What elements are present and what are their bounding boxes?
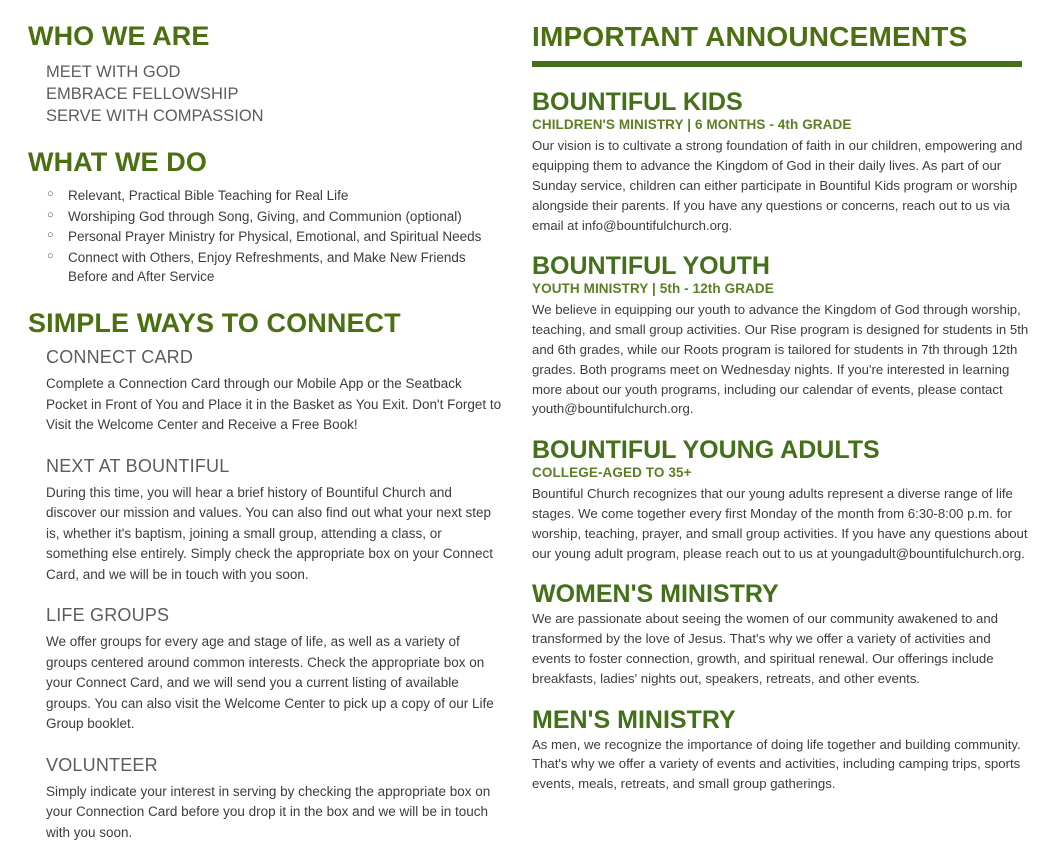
circle-bullet-icon: ○ <box>47 227 54 245</box>
connect-entry: LIFE GROUPS We offer groups for every ag… <box>46 605 502 735</box>
simple-ways-heading: SIMPLE WAYS TO CONNECT <box>28 309 502 337</box>
connect-entry-title: CONNECT CARD <box>46 347 502 368</box>
who-we-are-list: MEET WITH GOD EMBRACE FELLOWSHIP SERVE W… <box>28 62 502 127</box>
connect-entry: VOLUNTEER Simply indicate your interest … <box>46 755 502 843</box>
who-we-are-heading: WHO WE ARE <box>28 22 502 50</box>
announcement-heading: BOUNTIFUL YOUTH <box>532 253 1030 280</box>
simple-ways-entries: CONNECT CARD Complete a Connection Card … <box>28 347 502 843</box>
who-we-are-item: MEET WITH GOD <box>46 62 502 84</box>
left-column: WHO WE ARE MEET WITH GOD EMBRACE FELLOWS… <box>0 0 520 843</box>
title-divider <box>532 61 1022 67</box>
what-we-do-item-label: Worshiping God through Song, Giving, and… <box>68 209 462 224</box>
what-we-do-item-label: Personal Prayer Ministry for Physical, E… <box>68 229 481 244</box>
announcement-subheading: YOUTH MINISTRY | 5th - 12th GRADE <box>532 281 1030 296</box>
connect-entry-body: We offer groups for every age and stage … <box>46 632 502 735</box>
announcement-block: MEN'S MINISTRY As men, we recognize the … <box>532 707 1030 794</box>
announcement-heading: BOUNTIFUL YOUNG ADULTS <box>532 437 1030 464</box>
announcement-heading: WOMEN'S MINISTRY <box>532 581 1030 608</box>
announcement-subheading: CHILDREN'S MINISTRY | 6 MONTHS - 4th GRA… <box>532 117 1030 132</box>
who-we-are-item: SERVE WITH COMPASSION <box>46 106 502 128</box>
what-we-do-item-label: Connect with Others, Enjoy Refreshments,… <box>68 250 466 285</box>
circle-bullet-icon: ○ <box>47 186 54 204</box>
what-we-do-item: ○ Personal Prayer Ministry for Physical,… <box>46 227 502 247</box>
connect-entry-body: During this time, you will hear a brief … <box>46 483 502 586</box>
announcement-block: WOMEN'S MINISTRY We are passionate about… <box>532 581 1030 688</box>
announcement-body: We believe in equipping our youth to adv… <box>532 300 1030 419</box>
announcement-body: As men, we recognize the importance of d… <box>532 735 1030 794</box>
connect-entry-body: Complete a Connection Card through our M… <box>46 374 502 436</box>
connect-entry-title: VOLUNTEER <box>46 755 502 776</box>
announcement-body: We are passionate about seeing the women… <box>532 609 1030 688</box>
connect-entry: NEXT AT BOUNTIFUL During this time, you … <box>46 456 502 586</box>
announcement-heading: MEN'S MINISTRY <box>532 707 1030 734</box>
what-we-do-item-label: Relevant, Practical Bible Teaching for R… <box>68 188 348 203</box>
who-we-are-item: EMBRACE FELLOWSHIP <box>46 84 502 106</box>
right-column: IMPORTANT ANNOUNCEMENTS BOUNTIFUL KIDS C… <box>520 0 1056 794</box>
what-we-do-item: ○ Worshiping God through Song, Giving, a… <box>46 207 502 227</box>
announcement-body: Our vision is to cultivate a strong foun… <box>532 136 1030 235</box>
announcement-heading: BOUNTIFUL KIDS <box>532 89 1030 116</box>
announcement-subheading: COLLEGE-AGED TO 35+ <box>532 465 1030 480</box>
announcement-block: BOUNTIFUL KIDS CHILDREN'S MINISTRY | 6 M… <box>532 89 1030 235</box>
what-we-do-list: ○ Relevant, Practical Bible Teaching for… <box>28 186 502 287</box>
announcement-block: BOUNTIFUL YOUTH YOUTH MINISTRY | 5th - 1… <box>532 253 1030 419</box>
announcement-body: Bountiful Church recognizes that our you… <box>532 484 1030 563</box>
circle-bullet-icon: ○ <box>47 248 54 266</box>
what-we-do-item: ○ Connect with Others, Enjoy Refreshment… <box>46 248 502 287</box>
what-we-do-item: ○ Relevant, Practical Bible Teaching for… <box>46 186 502 206</box>
bulletin-page: WHO WE ARE MEET WITH GOD EMBRACE FELLOWS… <box>0 0 1056 816</box>
circle-bullet-icon: ○ <box>47 207 54 225</box>
connect-entry: CONNECT CARD Complete a Connection Card … <box>46 347 502 436</box>
connect-entry-title: LIFE GROUPS <box>46 605 502 626</box>
connect-entry-body: Simply indicate your interest in serving… <box>46 782 502 843</box>
announcement-block: BOUNTIFUL YOUNG ADULTS COLLEGE-AGED TO 3… <box>532 437 1030 563</box>
connect-entry-title: NEXT AT BOUNTIFUL <box>46 456 502 477</box>
announcements-title: IMPORTANT ANNOUNCEMENTS <box>532 22 1030 51</box>
what-we-do-heading: WHAT WE DO <box>28 148 502 176</box>
